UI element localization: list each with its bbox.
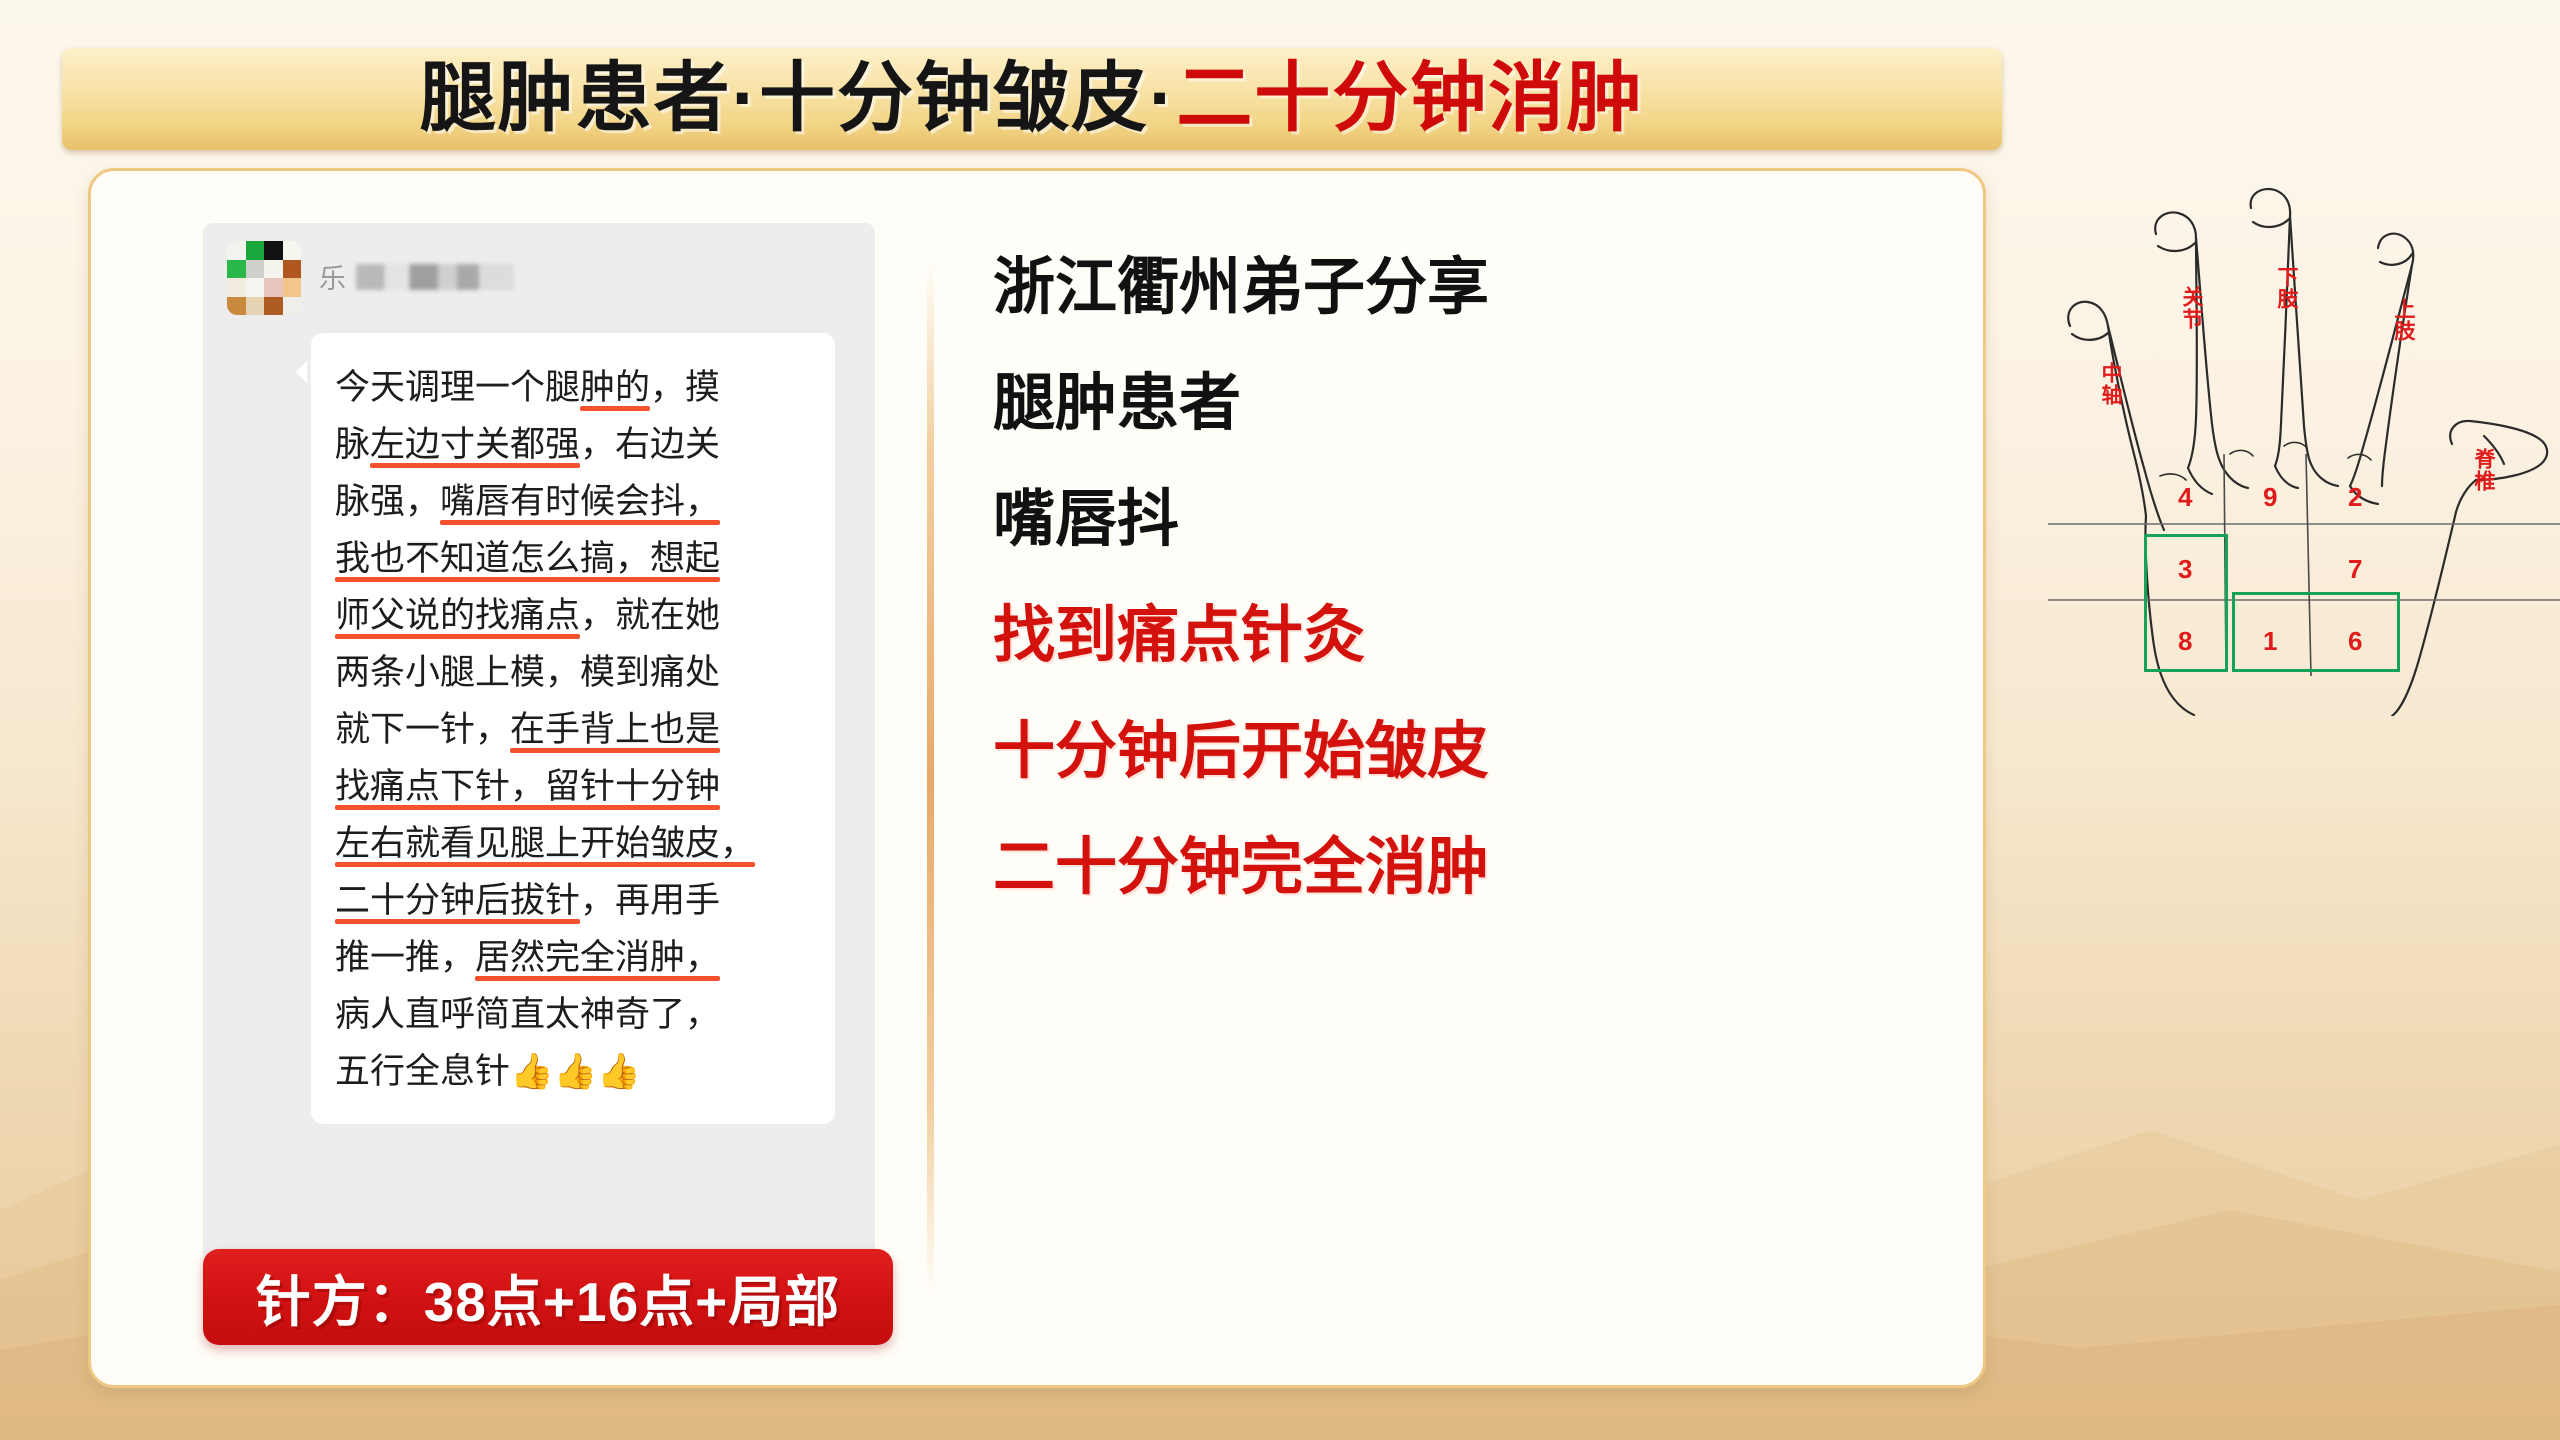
title-banner: 腿肿患者·十分钟皱皮·二十分钟消肿 — [62, 48, 2002, 150]
summary-item: 腿肿患者 — [993, 373, 1913, 435]
chat-line: 病人直呼简直太神奇了， — [335, 986, 813, 1043]
chat-line: 二十分钟后拔针，再用手 — [335, 872, 813, 929]
highlight-box-bottom — [2232, 592, 2400, 672]
page-title-red: 二十分钟消肿 — [1176, 61, 1644, 137]
thumbs-up-icon: 👍👍👍 — [510, 1052, 641, 1091]
avatar — [227, 241, 301, 315]
hand-label-guanjie: 关节 — [2181, 286, 2202, 330]
hand-label-xiazhi: 下肢 — [2276, 266, 2297, 310]
summary-item: 找到痛点针灸 — [993, 605, 1913, 667]
summary-item: 二十分钟完全消肿 — [993, 837, 1913, 899]
content-card: 乐 今天调理一个腿肿的，摸 脉左边寸关都强，右边关 脉强，嘴唇有时候会抖， 我也… — [88, 168, 1986, 1388]
sender-name-redacted — [356, 264, 514, 290]
hand-zone-4: 4 — [2178, 482, 2192, 513]
hand-zone-9: 9 — [2263, 482, 2277, 513]
page-title: 腿肿患者·十分钟皱皮·二十分钟消肿 — [62, 48, 2002, 150]
hand-zone-7: 7 — [2348, 554, 2362, 585]
hand-zone-6: 6 — [2348, 626, 2362, 657]
chat-line: 就下一针，在手背上也是 — [335, 701, 813, 758]
chat-line: 师父说的找痛点，就在她 — [335, 587, 813, 644]
column-divider — [927, 263, 934, 1293]
chat-bubble: 今天调理一个腿肿的，摸 脉左边寸关都强，右边关 脉强，嘴唇有时候会抖， 我也不知… — [311, 333, 835, 1124]
prescription-banner: 针方：38点+16点+局部 — [203, 1249, 893, 1345]
summary-item: 嘴唇抖 — [993, 489, 1913, 551]
chat-line: 两条小腿上模，模到痛处 — [335, 644, 813, 701]
summary-item: 十分钟后开始皱皮 — [993, 721, 1913, 783]
sender-name: 乐 — [319, 257, 514, 296]
hand-zone-3: 3 — [2178, 554, 2192, 585]
page-title-black: 腿肿患者·十分钟皱皮· — [420, 61, 1177, 137]
chat-line: 脉左边寸关都强，右边关 — [335, 416, 813, 473]
chat-line: 今天调理一个腿肿的，摸 — [335, 359, 813, 416]
wechat-screenshot: 乐 今天调理一个腿肿的，摸 脉左边寸关都强，右边关 脉强，嘴唇有时候会抖， 我也… — [203, 223, 875, 1323]
chat-line: 左右就看见腿上开始皱皮， — [335, 815, 813, 872]
sender-name-visible: 乐 — [319, 257, 348, 296]
chat-message-header: 乐 — [227, 241, 514, 315]
hand-label-shangzhi: 上肢 — [2393, 298, 2414, 342]
chat-line: 找痛点下针，留针十分钟 — [335, 758, 813, 815]
summary-list: 浙江衢州弟子分享 腿肿患者 嘴唇抖 找到痛点针灸 十分钟后开始皱皮 二十分钟完全… — [993, 257, 1913, 953]
chat-line: 五行全息针👍👍👍 — [335, 1043, 813, 1100]
hand-label-zhongzhou: 中轴 — [2100, 362, 2121, 406]
prescription-label: 针方：38点+16点+局部 — [256, 1257, 841, 1337]
hand-holographic-diagram: 中轴 关节 下肢 上肢 脊椎 4 9 2 3 7 8 1 6 — [2048, 186, 2560, 716]
summary-item: 浙江衢州弟子分享 — [993, 257, 1913, 319]
hand-label-jizhui: 脊椎 — [2473, 448, 2494, 492]
hand-zone-1: 1 — [2263, 626, 2277, 657]
chat-line: 我也不知道怎么搞，想起 — [335, 530, 813, 587]
hand-zone-8: 8 — [2178, 626, 2192, 657]
hand-zone-2: 2 — [2348, 482, 2362, 513]
chat-line: 推一推，居然完全消肿， — [335, 929, 813, 986]
chat-line: 脉强，嘴唇有时候会抖， — [335, 473, 813, 530]
